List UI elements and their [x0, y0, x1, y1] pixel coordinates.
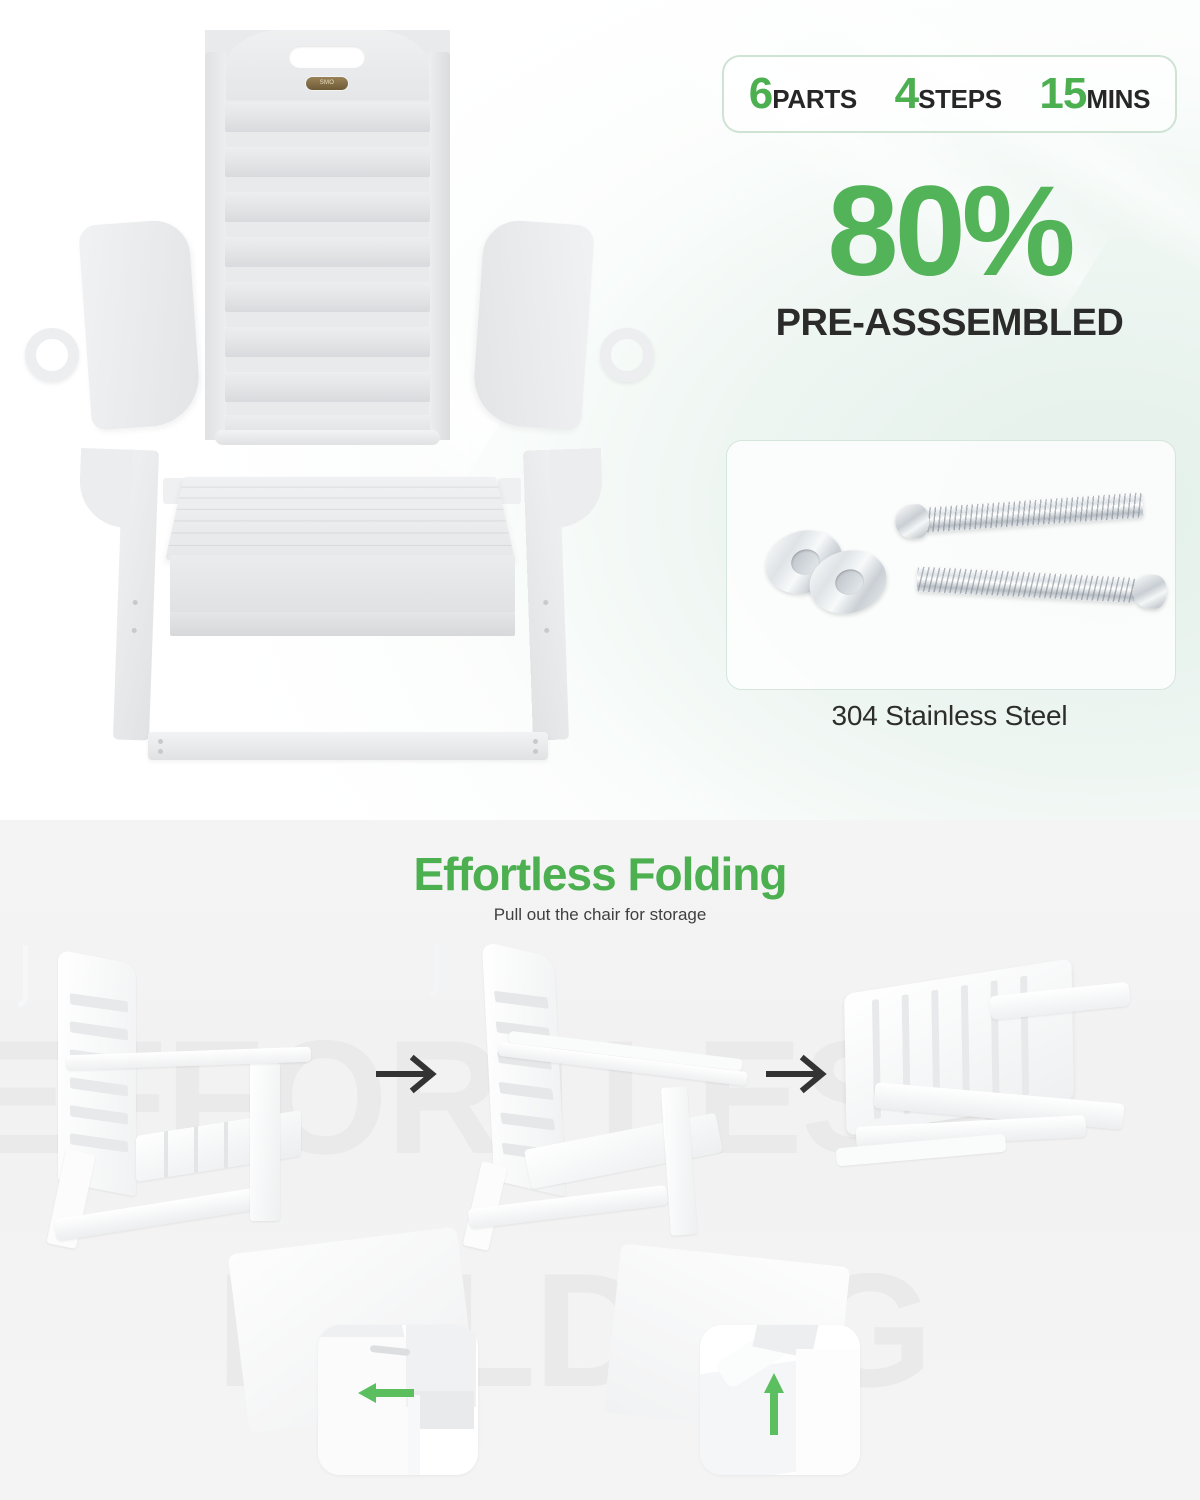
assembly-info-section: SMO — [0, 0, 1200, 820]
green-arrow-up-icon — [762, 1373, 786, 1440]
bolt-icon — [894, 490, 1145, 537]
armrest-left — [78, 218, 202, 430]
stat-steps-unit: STEPS — [918, 84, 1002, 115]
back-slat — [225, 372, 430, 402]
back-slat — [225, 192, 430, 222]
back-brace-rail — [215, 430, 440, 445]
seat-slat-panel — [165, 477, 515, 560]
chair-back-panel: SMO — [205, 30, 450, 440]
stat-mins-number: 15 — [1039, 69, 1086, 119]
stat-parts-unit: PARTS — [772, 84, 857, 115]
brand-badge: SMO — [306, 77, 348, 90]
back-slat — [225, 147, 430, 177]
green-arrow-left-icon — [358, 1381, 414, 1410]
assembly-stats-pill: 6 PARTS 4 STEPS 15 MINS — [722, 55, 1177, 133]
pre-assembled-caption: PRE-ASSSEMBLED — [722, 302, 1177, 345]
stat-parts-number: 6 — [749, 69, 772, 119]
effortless-folding-section: EFFORTLESS FOLDING Effortless Folding Pu… — [0, 820, 1200, 1500]
chair-back-handle-cutout — [289, 46, 365, 68]
stat-mins: 15 MINS — [1039, 69, 1150, 119]
folding-stage-open — [18, 945, 348, 1255]
armrest-right — [471, 218, 595, 430]
seat-lower-rail — [170, 612, 515, 636]
cupholder-ring-left — [25, 328, 79, 382]
folding-stage-folding — [430, 945, 760, 1255]
pre-assembled-callout: 80% PRE-ASSSEMBLED — [722, 168, 1177, 345]
bottom-cross-bar — [148, 732, 548, 760]
chair-folding-hook — [18, 945, 28, 1007]
bolt-icon — [916, 564, 1167, 607]
exploded-chair-illustration: SMO — [0, 0, 700, 820]
stat-steps: 4 STEPS — [895, 69, 1002, 119]
back-slat — [225, 102, 430, 132]
back-frame-left — [205, 52, 226, 440]
hardware-caption: 304 Stainless Steel — [722, 700, 1177, 732]
leg-fold-detail-inset — [700, 1325, 860, 1475]
side-leg-right — [523, 449, 569, 740]
chair-front-leg — [250, 1063, 280, 1221]
stat-steps-number: 4 — [895, 69, 918, 119]
hardware-photo-card — [726, 440, 1176, 690]
stat-mins-unit: MINS — [1086, 84, 1150, 115]
chair-folding-hook — [430, 945, 439, 997]
back-slat — [225, 237, 430, 267]
back-slat — [225, 327, 430, 357]
folding-subtitle: Pull out the chair for storage — [0, 905, 1200, 925]
folding-title: Effortless Folding — [0, 847, 1200, 901]
cupholder-ring-right — [600, 328, 654, 382]
brand-badge-label: SMO — [306, 77, 348, 90]
pre-assembled-percent: 80% — [722, 168, 1177, 296]
stat-parts: 6 PARTS — [749, 69, 857, 119]
back-slat — [225, 282, 430, 312]
back-frame-right — [429, 52, 450, 440]
folding-stage-folded — [818, 945, 1148, 1255]
side-leg-left — [113, 449, 159, 740]
chair-front-leg — [661, 1086, 697, 1235]
latch-release-detail-inset — [318, 1325, 478, 1475]
seat-front-apron — [170, 555, 515, 613]
